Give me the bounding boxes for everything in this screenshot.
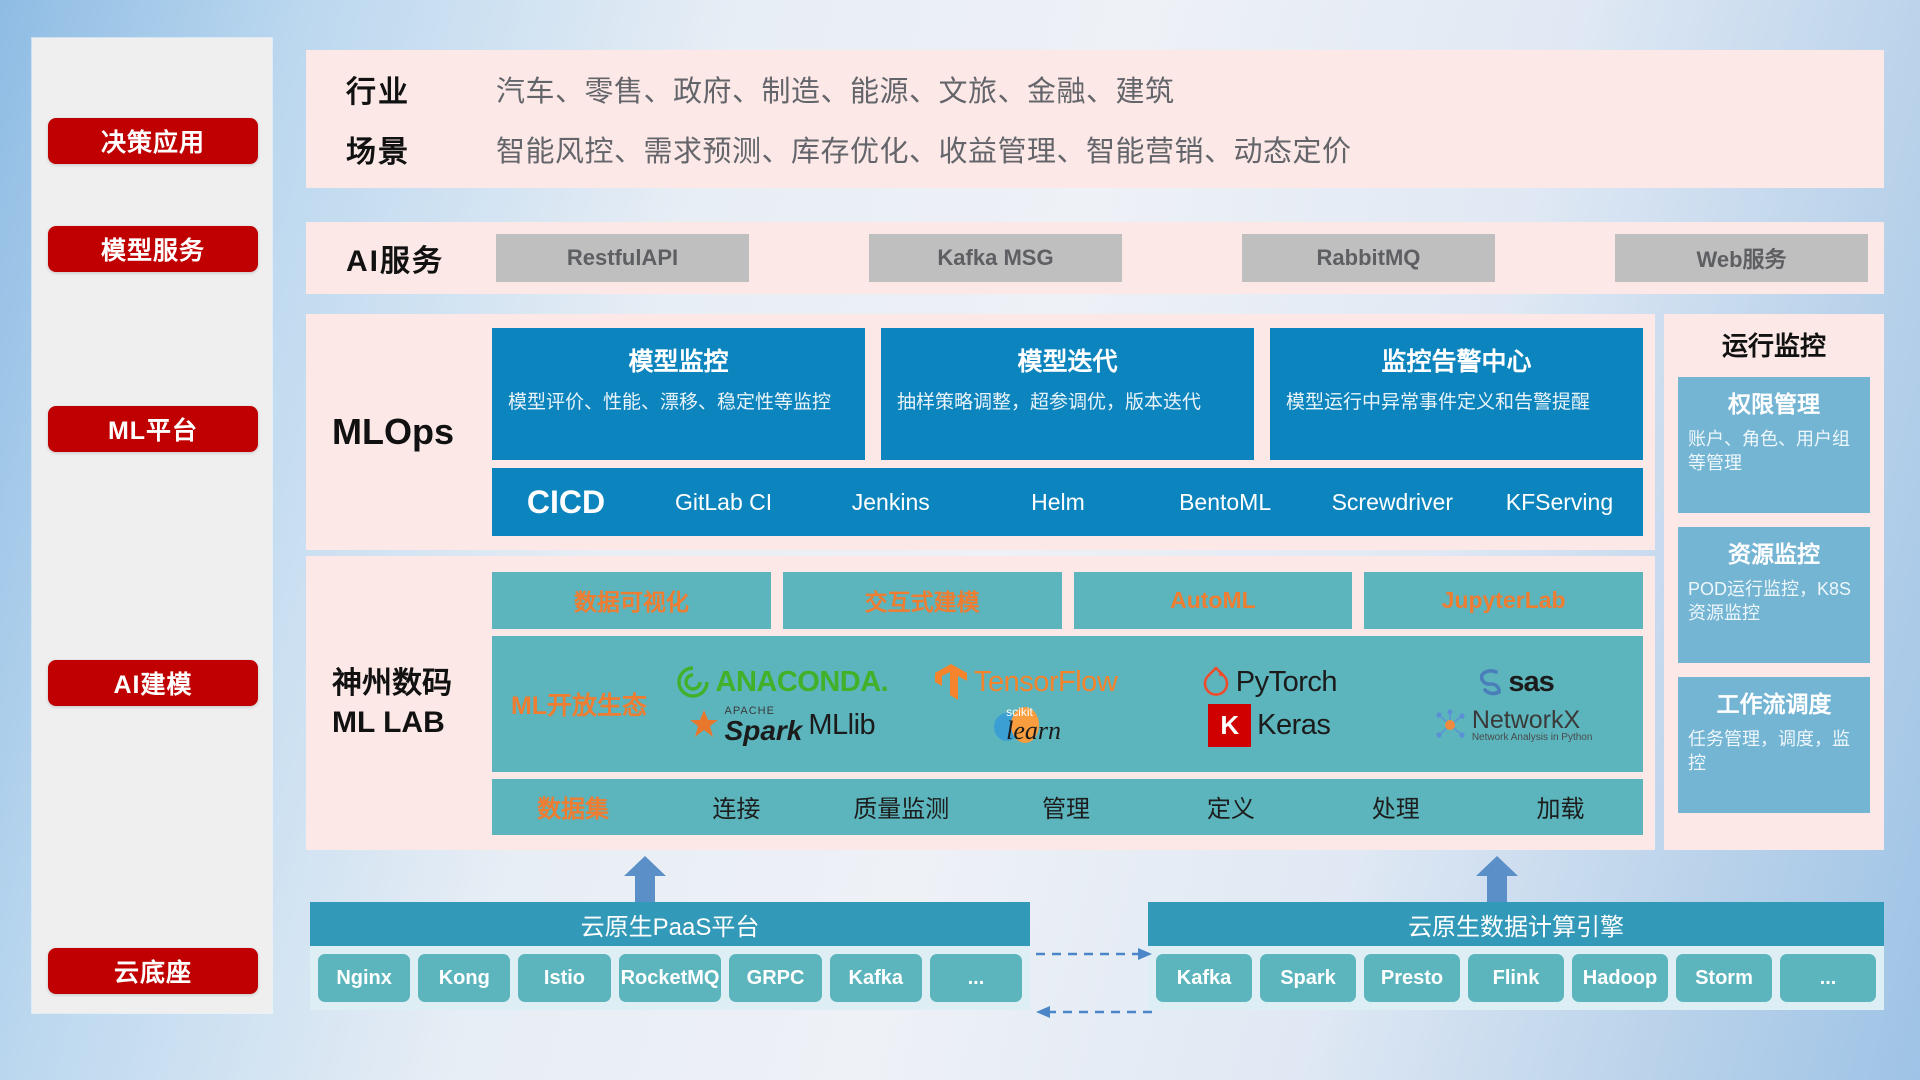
dataset-item-load[interactable]: 加载: [1478, 789, 1643, 824]
sas-logo: sas: [1472, 665, 1553, 699]
dataset-item-quality-monitoring[interactable]: 质量监测: [819, 789, 984, 824]
ai-service-chip-restfulapi[interactable]: RestfulAPI: [496, 234, 749, 282]
mlops-card-list: 模型监控 模型评价、性能、漂移、稳定性等监控 模型迭代 抽样策略调整，超参调优，…: [492, 328, 1643, 460]
rail-chip-label: AI建模: [113, 665, 192, 701]
card-title: 模型迭代: [897, 342, 1238, 378]
spark-wordmark: Spark: [725, 717, 803, 745]
cloud-paas-title: 云原生PaaS平台: [310, 902, 1030, 946]
cloud-chip-grpc[interactable]: GRPC: [729, 954, 821, 1002]
mlops-label: MLOps: [332, 411, 492, 453]
tensorflow-mark-icon: [934, 663, 968, 701]
rail-chip-model-service[interactable]: 模型服务: [48, 226, 258, 272]
cloud-data-engine-title: 云原生数据计算引擎: [1148, 902, 1884, 946]
cicd-item-screwdriver[interactable]: Screwdriver: [1309, 490, 1476, 514]
up-arrow-paas-icon: [622, 854, 668, 902]
dataset-item-manage[interactable]: 管理: [984, 789, 1149, 824]
spark-wordmark-stack: APACHE Spark: [725, 706, 803, 745]
spark-star-icon: [689, 708, 719, 742]
scenario-row: 场景 智能风控、需求预测、库存优化、收益管理、智能营销、动态定价: [346, 127, 1884, 171]
scikit-learn-logo: scikit learn: [990, 705, 1061, 745]
keras-logo: K Keras: [1208, 704, 1330, 747]
cloud-chip-presto[interactable]: Presto: [1364, 954, 1460, 1002]
cloud-paas-group: 云原生PaaS平台 Nginx Kong Istio RocketMQ GRPC…: [310, 902, 1030, 1010]
anaconda-mark-icon: [676, 665, 710, 699]
cloud-data-engine-chip-tray: Kafka Spark Presto Flink Hadoop Storm ..…: [1148, 946, 1884, 1010]
networkx-logo: NetworkX Network Analysis in Python: [1434, 707, 1593, 744]
dataset-item-define[interactable]: 定义: [1148, 789, 1313, 824]
card-title: 资源监控: [1688, 535, 1860, 569]
ai-service-chip-web-service[interactable]: Web服务: [1615, 234, 1868, 282]
sas-mark-icon: [1472, 665, 1502, 699]
mlops-band: MLOps 模型监控 模型评价、性能、漂移、稳定性等监控 模型迭代 抽样策略调整…: [306, 314, 1655, 550]
rail-chip-label: 云底座: [114, 953, 192, 989]
mllib-wordmark: MLlib: [808, 709, 875, 742]
dataset-item-connect[interactable]: 连接: [654, 789, 819, 824]
rail-chip-label: 决策应用: [101, 123, 205, 159]
cicd-item-helm[interactable]: Helm: [974, 490, 1141, 514]
cloud-chip-hadoop[interactable]: Hadoop: [1572, 954, 1668, 1002]
cloud-group-connectors: [1034, 938, 1154, 1034]
ml-lab-band: 神州数码 ML LAB 数据可视化 交互式建模 AutoML JupyterLa…: [306, 556, 1655, 850]
ml-lab-content: 数据可视化 交互式建模 AutoML JupyterLab ML开放生态 ANA…: [492, 556, 1655, 850]
cloud-data-engine-group: 云原生数据计算引擎 Kafka Spark Presto Flink Hadoo…: [1148, 902, 1884, 1010]
scikit-learn-wordmark-stack: scikit learn: [1006, 706, 1061, 744]
networkx-wordmark-stack: NetworkX Network Analysis in Python: [1472, 707, 1593, 744]
up-arrow-data-icon: [1474, 854, 1520, 902]
card-title: 工作流调度: [1688, 685, 1860, 719]
monitor-card-permission[interactable]: 权限管理 账户、角色、用户组等管理: [1678, 377, 1870, 513]
mlops-card-alert-center[interactable]: 监控告警中心 模型运行中异常事件定义和告警提醒: [1270, 328, 1643, 460]
card-desc: 模型运行中异常事件定义和告警提醒: [1286, 390, 1627, 416]
ai-service-chip-kafka-msg[interactable]: Kafka MSG: [869, 234, 1122, 282]
ml-lab-tool-list: 数据可视化 交互式建模 AutoML JupyterLab: [492, 572, 1643, 629]
cloud-chip-kafka[interactable]: Kafka: [1156, 954, 1252, 1002]
cicd-item-kfserving[interactable]: KFServing: [1476, 490, 1643, 514]
scenario-value: 智能风控、需求预测、库存优化、收益管理、智能营销、动态定价: [496, 128, 1352, 170]
card-desc: 抽样策略调整，超参调优，版本迭代: [897, 390, 1238, 416]
cloud-chip-storm[interactable]: Storm: [1676, 954, 1772, 1002]
cloud-chip-more[interactable]: ...: [930, 954, 1022, 1002]
ml-lab-label: 神州数码 ML LAB: [332, 664, 492, 742]
cicd-label: CICD: [492, 484, 640, 521]
rail-chip-ml-platform[interactable]: ML平台: [48, 406, 258, 452]
cicd-item-gitlab-ci[interactable]: GitLab CI: [640, 490, 807, 514]
sas-wordmark: sas: [1508, 666, 1553, 699]
rail-chip-cloud-base[interactable]: 云底座: [48, 948, 258, 994]
tool-chip-interactive-modeling[interactable]: 交互式建模: [783, 572, 1062, 629]
pytorch-logo: PyTorch: [1202, 665, 1337, 699]
keras-wordmark: Keras: [1257, 709, 1330, 742]
ml-lab-label-line1: 神州数码: [332, 664, 492, 703]
card-title: 模型监控: [508, 342, 849, 378]
ai-service-chip-list: RestfulAPI Kafka MSG RabbitMQ Web服务: [496, 234, 1884, 282]
cicd-item-jenkins[interactable]: Jenkins: [807, 490, 974, 514]
ai-service-chip-rabbitmq[interactable]: RabbitMQ: [1242, 234, 1495, 282]
ml-ecosystem-bar: ML开放生态 ANACONDA. TensorFlow: [492, 636, 1643, 772]
networkx-mark-icon: [1434, 709, 1466, 741]
industry-scenario-band: 行业 汽车、零售、政府、制造、能源、文旅、金融、建筑 场景 智能风控、需求预测、…: [306, 50, 1884, 188]
cloud-chip-kafka[interactable]: Kafka: [830, 954, 922, 1002]
tool-chip-jupyterlab[interactable]: JupyterLab: [1364, 572, 1643, 629]
runtime-monitor-title: 运行监控: [1678, 326, 1870, 363]
cloud-chip-more[interactable]: ...: [1780, 954, 1876, 1002]
dataset-bar: 数据集 连接 质量监测 管理 定义 处理 加载: [492, 779, 1643, 835]
scenario-key: 场景: [346, 127, 496, 171]
dataset-label: 数据集: [492, 789, 654, 824]
tensorflow-wordmark: TensorFlow: [974, 666, 1117, 699]
cloud-chip-rocketmq[interactable]: RocketMQ: [619, 954, 722, 1002]
cloud-chip-kong[interactable]: Kong: [418, 954, 510, 1002]
rail-chip-label: 模型服务: [101, 231, 205, 267]
tool-chip-automl[interactable]: AutoML: [1074, 572, 1353, 629]
anaconda-logo: ANACONDA.: [676, 665, 889, 699]
card-title: 监控告警中心: [1286, 342, 1627, 378]
cloud-chip-spark[interactable]: Spark: [1260, 954, 1356, 1002]
mlops-content: 模型监控 模型评价、性能、漂移、稳定性等监控 模型迭代 抽样策略调整，超参调优，…: [492, 314, 1655, 550]
mlops-card-model-monitoring[interactable]: 模型监控 模型评价、性能、漂移、稳定性等监控: [492, 328, 865, 460]
rail-chip-decision-app[interactable]: 决策应用: [48, 118, 258, 164]
spark-mllib-logo: APACHE Spark MLlib: [689, 706, 876, 745]
rail-chip-ai-modeling[interactable]: AI建模: [48, 660, 258, 706]
cicd-bar: CICD GitLab CI Jenkins Helm BentoML Scre…: [492, 468, 1643, 536]
ml-ecosystem-label: ML开放生态: [498, 686, 660, 722]
card-desc: 模型评价、性能、漂移、稳定性等监控: [508, 390, 849, 416]
ml-lab-label-line2: ML LAB: [332, 703, 492, 742]
anaconda-wordmark: ANACONDA.: [716, 666, 889, 699]
tool-chip-data-visualization[interactable]: 数据可视化: [492, 572, 771, 629]
cloud-chip-istio[interactable]: Istio: [518, 954, 610, 1002]
cloud-chip-flink[interactable]: Flink: [1468, 954, 1564, 1002]
cloud-chip-nginx[interactable]: Nginx: [318, 954, 410, 1002]
cicd-item-bentoml[interactable]: BentoML: [1142, 490, 1309, 514]
keras-mark-icon: K: [1208, 704, 1251, 747]
pytorch-wordmark: PyTorch: [1236, 666, 1337, 699]
cloud-paas-chip-tray: Nginx Kong Istio RocketMQ GRPC Kafka ...: [310, 946, 1030, 1010]
mlops-card-model-iteration[interactable]: 模型迭代 抽样策略调整，超参调优，版本迭代: [881, 328, 1254, 460]
card-desc: 账户、角色、用户组等管理: [1688, 427, 1860, 475]
industry-row: 行业 汽车、零售、政府、制造、能源、文旅、金融、建筑: [346, 67, 1884, 111]
tensorflow-logo: TensorFlow: [934, 663, 1117, 701]
runtime-monitor-band: 运行监控 权限管理 账户、角色、用户组等管理 资源监控 POD运行监控，K8S资…: [1664, 314, 1884, 850]
dataset-item-process[interactable]: 处理: [1313, 789, 1478, 824]
ai-service-label: AI服务: [346, 236, 496, 280]
ai-service-band: AI服务 RestfulAPI Kafka MSG RabbitMQ Web服务: [306, 222, 1884, 294]
rail-chip-label: ML平台: [108, 411, 198, 447]
industry-value: 汽车、零售、政府、制造、能源、文旅、金融、建筑: [496, 68, 1175, 110]
layer-rail: 决策应用 模型服务 ML平台 AI建模 云底座: [32, 38, 272, 1013]
card-desc: 任务管理，调度，监控: [1688, 727, 1860, 775]
card-desc: POD运行监控，K8S资源监控: [1688, 577, 1860, 625]
monitor-card-workflow[interactable]: 工作流调度 任务管理，调度，监控: [1678, 677, 1870, 813]
card-title: 权限管理: [1688, 385, 1860, 419]
networkx-tagline: Network Analysis in Python: [1472, 733, 1593, 744]
monitor-card-resource[interactable]: 资源监控 POD运行监控，K8S资源监控: [1678, 527, 1870, 663]
networkx-wordmark: NetworkX: [1472, 707, 1593, 733]
pytorch-mark-icon: [1202, 665, 1230, 699]
learn-wordmark: learn: [1006, 718, 1061, 744]
industry-key: 行业: [346, 67, 496, 111]
ml-ecosystem-logo-grid: ANACONDA. TensorFlow PyTorch: [660, 661, 1635, 747]
